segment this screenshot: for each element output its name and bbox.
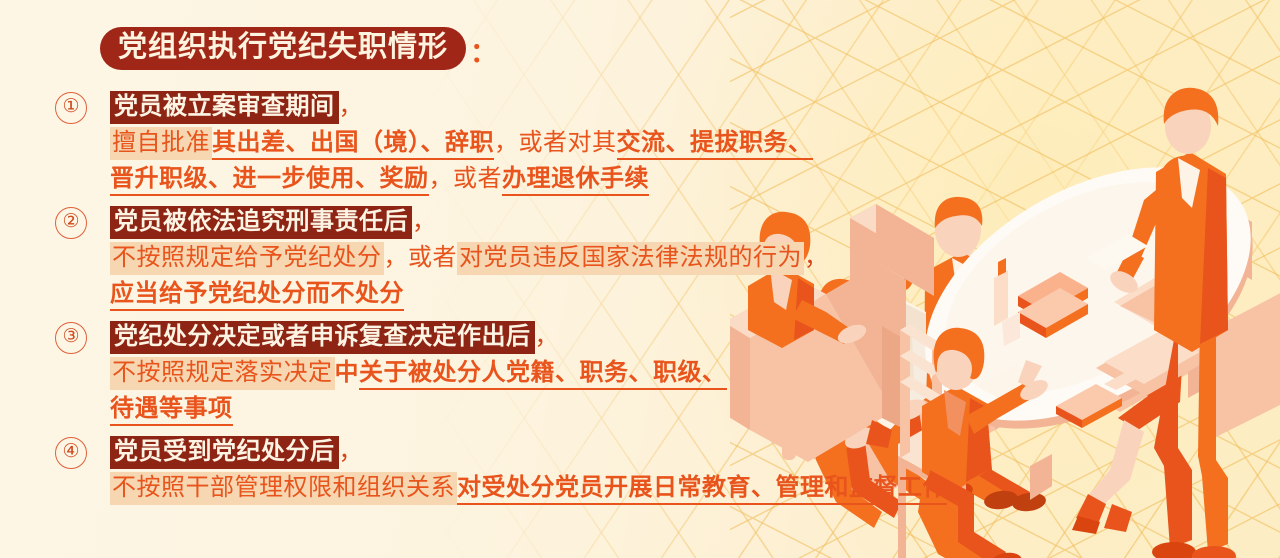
text-column: 党组织执行党纪失职情形 ： ① 党员被立案审查期间， 擅自批准其出差、出国（境）… (0, 0, 900, 558)
item-body: 党员被立案审查期间， 擅自批准其出差、出国（境）、辞职，或者对其交流、提拔职务、… (110, 89, 813, 197)
highlight-peach: 不按照规定给予党纪处分 (110, 242, 384, 275)
highlight-dark: 党员受到党纪处分后 (110, 436, 339, 469)
item-body: 党员被依法追究刑事责任后， 不按照规定给予党纪处分，或者对党员违反国家法律法规的… (110, 204, 829, 312)
plain-text: ，或者 (429, 166, 503, 192)
poster-canvas: 党组织执行党纪失职情形 ： ① 党员被立案审查期间， 擅自批准其出差、出国（境）… (0, 0, 1280, 558)
item-line: 党员受到党纪处分后， (110, 434, 947, 470)
item-line: 应当给予党纪处分而不处分 (110, 276, 829, 312)
emphasis-underlined: 对受处分党员开展日常教育、管理和监督工作 (457, 475, 947, 505)
highlight-dark: 党员被依法追究刑事责任后 (110, 206, 412, 239)
emphasis-underlined: 其出差、出国（境）、辞职 (212, 130, 494, 160)
item-number: ② (55, 207, 87, 239)
highlight-peach: 对党员违反国家法律法规的行为 (457, 242, 804, 275)
poster-title-row: 党组织执行党纪失职情形 ： (100, 27, 497, 70)
highlight-peach: 不按照干部管理权限和组织关系 (110, 472, 457, 505)
item-number: ④ (55, 437, 87, 469)
item-line: 党员被依法追究刑事责任后， (110, 204, 829, 240)
emphasis-underlined: 关于被处分人党籍、职务、职级、 (359, 360, 727, 390)
emphasis-underlined: 晋升职级、进一步使用、奖励 (110, 166, 429, 196)
highlight-peach: 擅自批准 (110, 127, 212, 160)
plain-text: ，或者 (384, 245, 458, 271)
emphasis-text: 中 (335, 360, 360, 386)
item-body: 党纪处分决定或者申诉复查决定作出后， 不按照规定落实决定中关于被处分人党籍、职务… (110, 319, 727, 427)
emphasis-underlined: 办理退休手续 (502, 166, 649, 196)
plain-text: ，或者对其 (494, 130, 617, 156)
title-colon: ： (470, 31, 497, 70)
item-number: ① (55, 92, 87, 124)
item-line: 待遇等事项 (110, 391, 727, 427)
item-line: 党员被立案审查期间， (110, 89, 813, 125)
item-body: 党员受到党纪处分后， 不按照干部管理权限和组织关系对受处分党员开展日常教育、管理… (110, 434, 947, 506)
page-title: 党组织执行党纪失职情形 (100, 27, 466, 70)
emphasis-underlined: 待遇等事项 (110, 396, 233, 426)
emphasis-underlined: 应当给予党纪处分而不处分 (110, 281, 404, 311)
punctuation: ， (412, 209, 437, 235)
item-line: 不按照规定落实决定中关于被处分人党籍、职务、职级、 (110, 355, 727, 391)
item-line: 党纪处分决定或者申诉复查决定作出后， (110, 319, 727, 355)
punctuation: ， (339, 439, 364, 465)
item-line: 不按照干部管理权限和组织关系对受处分党员开展日常教育、管理和监督工作 (110, 470, 947, 506)
item-line: 晋升职级、进一步使用、奖励，或者办理退休手续 (110, 161, 813, 197)
highlight-peach: 不按照规定落实决定 (110, 357, 335, 390)
highlight-dark: 党纪处分决定或者申诉复查决定作出后 (110, 321, 535, 354)
emphasis-underlined: 交流、提拔职务、 (617, 130, 813, 160)
item-number: ③ (55, 322, 87, 354)
item-line: 不按照规定给予党纪处分，或者对党员违反国家法律法规的行为， (110, 240, 829, 276)
punctuation: ， (339, 94, 364, 120)
item-line: 擅自批准其出差、出国（境）、辞职，或者对其交流、提拔职务、 (110, 125, 813, 161)
punctuation: ， (804, 245, 829, 271)
highlight-dark: 党员被立案审查期间 (110, 91, 339, 124)
punctuation: ， (535, 324, 560, 350)
